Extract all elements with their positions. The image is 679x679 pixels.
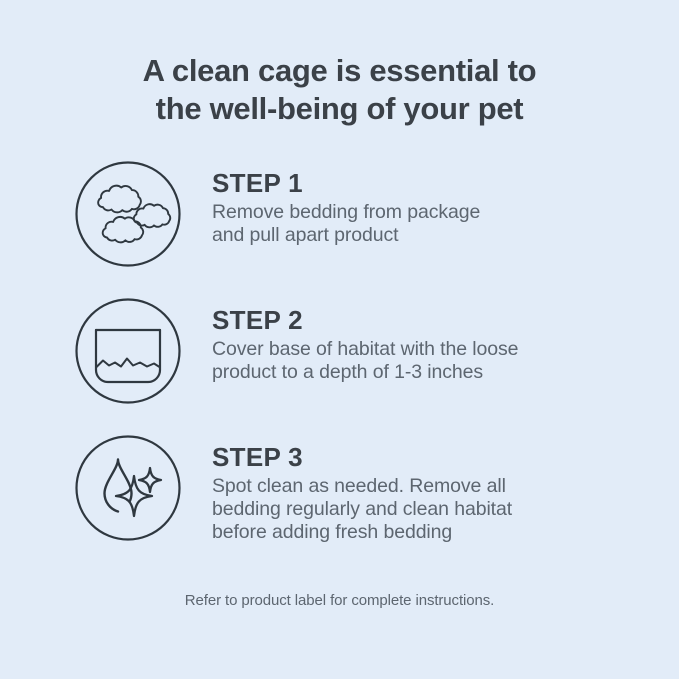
step-3-body-line-1: Spot clean as needed. Remove all <box>212 475 622 498</box>
instructions-poster: A clean cage is essential to the well-be… <box>0 0 679 679</box>
step-item-3: STEP 3 Spot clean as needed. Remove all … <box>0 434 679 544</box>
step-3-body-line-3: before adding fresh bedding <box>212 521 622 544</box>
step-item-1: STEP 1 Remove bedding from package and p… <box>0 160 679 268</box>
droplet-sparkle-icon <box>74 434 182 542</box>
page-title: A clean cage is essential to the well-be… <box>0 52 679 128</box>
step-1-text: STEP 1 Remove bedding from package and p… <box>182 160 679 247</box>
bedding-clouds-icon <box>74 160 182 268</box>
page-title-line-2: the well-being of your pet <box>44 90 635 128</box>
step-3-heading: STEP 3 <box>212 442 679 472</box>
step-item-2: STEP 2 Cover base of habitat with the lo… <box>0 297 679 405</box>
step-3-body: Spot clean as needed. Remove all bedding… <box>212 475 622 544</box>
steps-list: STEP 1 Remove bedding from package and p… <box>0 160 679 573</box>
page-title-line-1: A clean cage is essential to <box>44 52 635 90</box>
step-2-body-line-2: product to a depth of 1-3 inches <box>212 361 622 384</box>
step-1-heading: STEP 1 <box>212 168 679 198</box>
step-2-heading: STEP 2 <box>212 305 679 335</box>
step-3-body-line-2: bedding regularly and clean habitat <box>212 498 622 521</box>
step-2-body-line-1: Cover base of habitat with the loose <box>212 338 622 361</box>
step-1-body-line-1: Remove bedding from package <box>212 201 622 224</box>
step-1-body: Remove bedding from package and pull apa… <box>212 201 622 247</box>
step-2-body: Cover base of habitat with the loose pro… <box>212 338 622 384</box>
step-3-text: STEP 3 Spot clean as needed. Remove all … <box>182 434 679 544</box>
footer-note: Refer to product label for complete inst… <box>0 592 679 609</box>
step-1-body-line-2: and pull apart product <box>212 224 622 247</box>
step-2-text: STEP 2 Cover base of habitat with the lo… <box>182 297 679 384</box>
habitat-tank-icon <box>74 297 182 405</box>
